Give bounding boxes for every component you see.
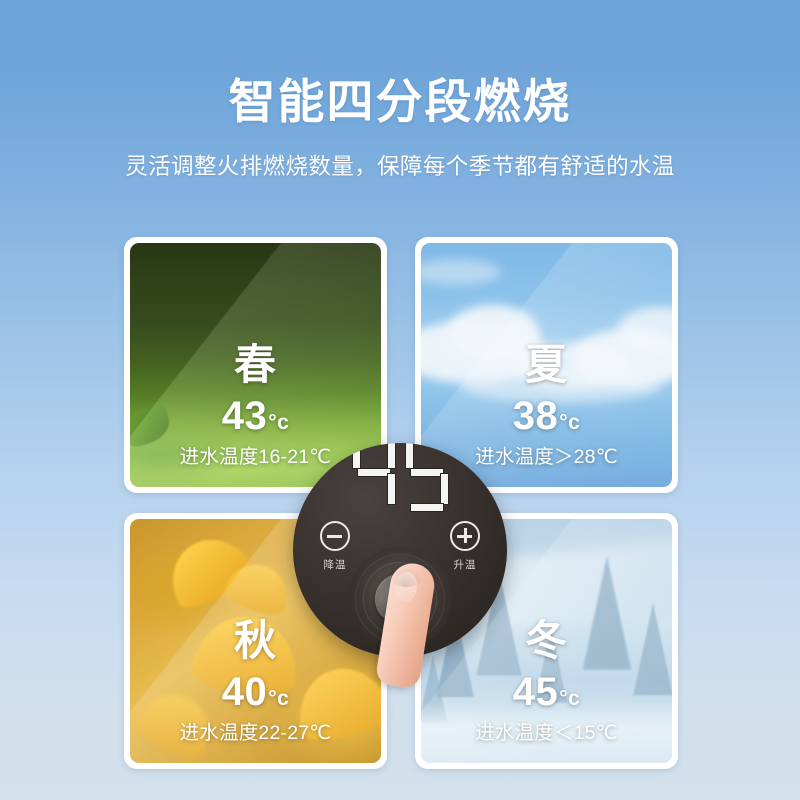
power-button-label: 电源 [348, 619, 452, 635]
water-heater-control-panel: 45 降温 升温 电源 [293, 443, 507, 657]
temperature-unit: °c [268, 411, 289, 434]
temperature-unit: °c [559, 411, 580, 434]
temperature-display: 45 [293, 443, 507, 525]
decrease-temperature-button[interactable]: 降温 [307, 521, 363, 572]
season-temperature: 45°c [421, 672, 672, 712]
season-temperature: 40°c [130, 672, 381, 712]
minus-circle-icon [320, 521, 350, 551]
page-title: 智能四分段燃烧 [0, 76, 800, 129]
temperature-value: 40 [222, 670, 268, 714]
temperature-value: 38 [513, 394, 559, 438]
power-icon [391, 590, 410, 609]
increase-temperature-button[interactable]: 升温 [437, 521, 493, 572]
header: 智能四分段燃烧 灵活调整火排燃烧数量，保障每个季节都有舒适的水温 [0, 76, 800, 181]
display-digit-ones [405, 443, 449, 513]
season-name: 夏 [421, 344, 672, 386]
power-button[interactable]: 电源 [348, 547, 452, 651]
display-digit-tens [352, 443, 396, 513]
plus-circle-icon [450, 521, 480, 551]
season-name: 春 [130, 344, 381, 386]
inlet-temperature-range: 进水温度22-27℃ [130, 724, 381, 744]
season-temperature: 38°c [421, 396, 672, 436]
temperature-value: 45 [513, 670, 559, 714]
decrease-temperature-label: 降温 [307, 557, 363, 572]
inlet-temperature-range: 进水温度＜15℃ [421, 724, 672, 744]
power-knob[interactable] [375, 574, 425, 624]
cloud-decoration [421, 259, 501, 285]
temperature-value: 43 [222, 394, 268, 438]
increase-temperature-label: 升温 [437, 557, 493, 572]
temperature-unit: °c [559, 687, 580, 710]
page-subtitle: 灵活调整火排燃烧数量，保障每个季节都有舒适的水温 [0, 149, 800, 181]
season-temperature: 43°c [130, 396, 381, 436]
promo-graphic: 智能四分段燃烧 灵活调整火排燃烧数量，保障每个季节都有舒适的水温 春 43°c … [0, 0, 800, 800]
temperature-unit: °c [268, 687, 289, 710]
